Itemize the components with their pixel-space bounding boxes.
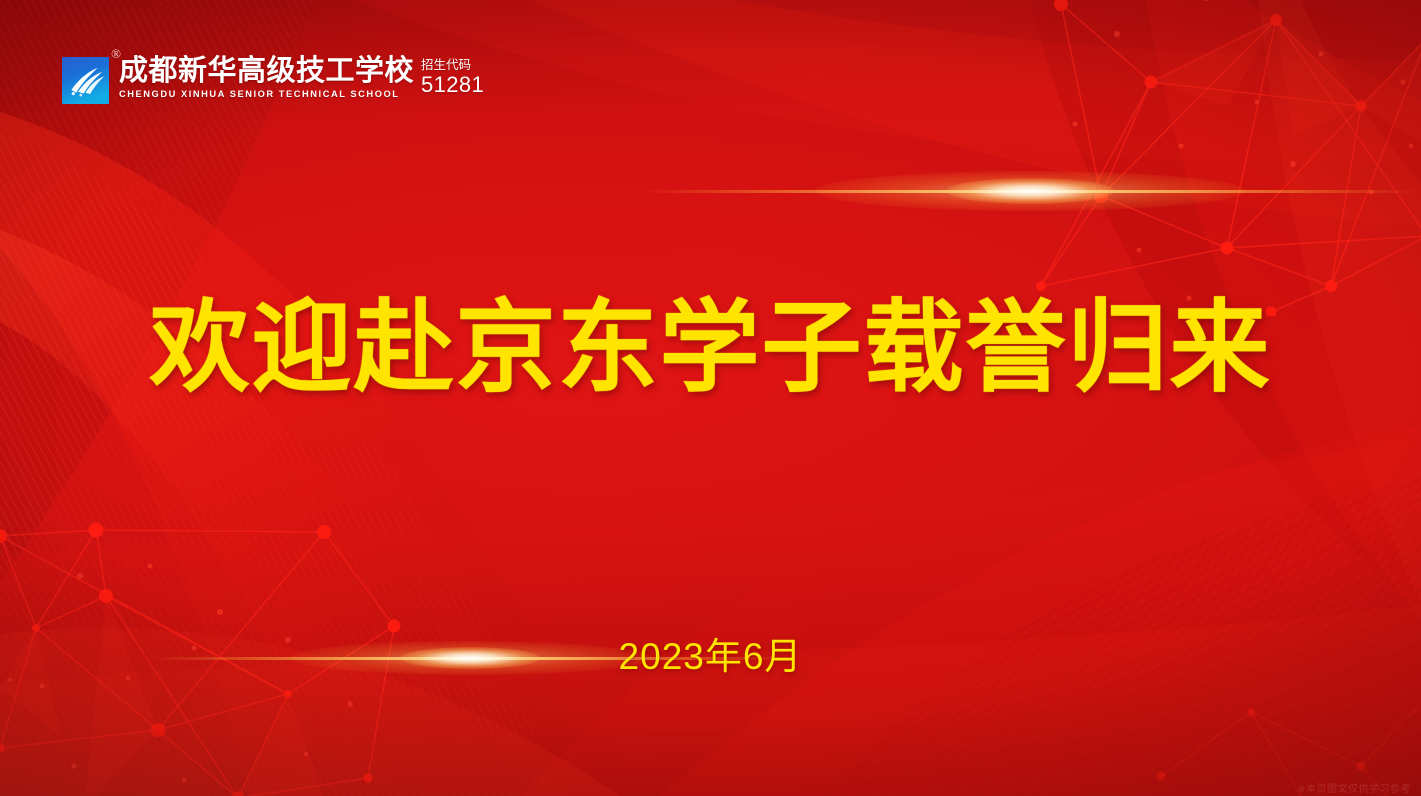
presentation-slide: ® 成都新华高级技工学校 CHENGDU XINHUA SENIOR TECHN… bbox=[0, 0, 1421, 796]
admission-code-label: 招生代码 bbox=[421, 59, 471, 72]
school-names: 成都新华高级技工学校 CHENGDU XINHUA SENIOR TECHNIC… bbox=[119, 57, 414, 99]
flare-glow bbox=[815, 171, 1245, 211]
lens-flare-upper-right bbox=[640, 155, 1420, 227]
chengdu-xinhua-swoosh-logo-icon bbox=[62, 57, 109, 104]
school-name-cn: 成都新华高级技工学校 bbox=[119, 57, 414, 86]
network-mesh-top-right bbox=[1031, 0, 1421, 316]
logo-text-block: 成都新华高级技工学校 CHENGDU XINHUA SENIOR TECHNIC… bbox=[119, 57, 484, 99]
slide-date-subtitle: 2023年6月 bbox=[0, 637, 1421, 678]
flare-bar bbox=[640, 190, 1420, 193]
slide-main-title: 欢迎赴京东学子载誉归来 bbox=[0, 296, 1421, 400]
admission-code-block: 招生代码 51281 bbox=[421, 57, 484, 96]
admission-code-value: 51281 bbox=[421, 73, 484, 96]
logo-mark-wrapper: ® bbox=[62, 57, 109, 104]
school-name-en: CHENGDU XINHUA SENIOR TECHNICAL SCHOOL bbox=[119, 90, 414, 99]
registered-trademark-icon: ® bbox=[111, 47, 121, 60]
flare-core bbox=[946, 178, 1114, 204]
school-logo-lockup: ® 成都新华高级技工学校 CHENGDU XINHUA SENIOR TECHN… bbox=[62, 57, 484, 104]
footer-watermark: ※本页图文仅供学习参考 bbox=[1297, 780, 1411, 795]
